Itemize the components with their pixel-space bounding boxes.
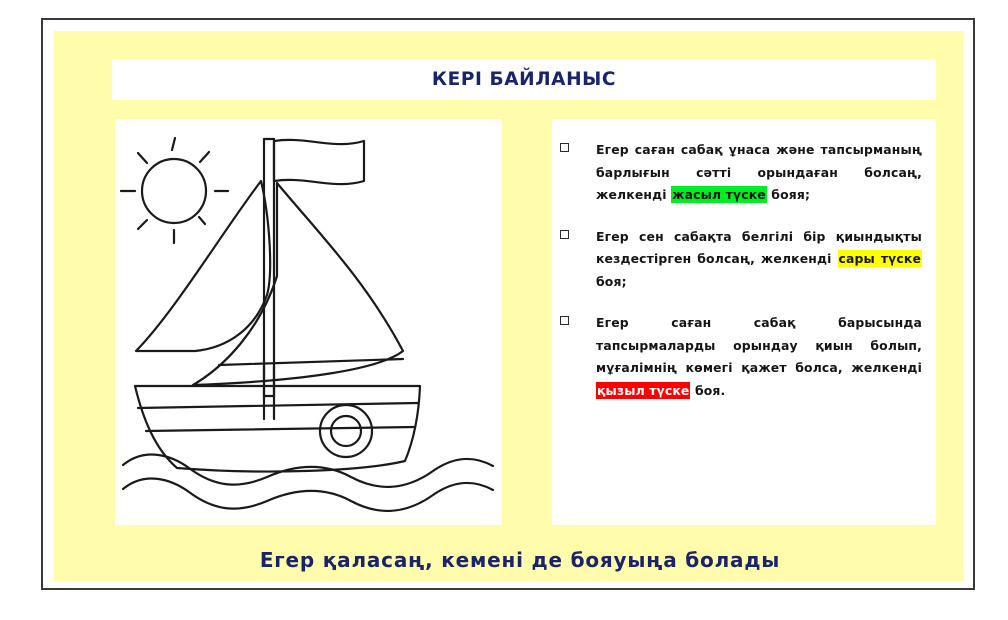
highlight-green: жасыл түске (671, 186, 767, 203)
checkbox-empty-icon[interactable] (560, 143, 569, 152)
yellow-panel: КЕРІ БАЙЛАНЫС (54, 31, 964, 581)
list-item: Егер сен сабақта белгілі бір қиындықты к… (596, 226, 922, 294)
instructions-box: Егер саған сабақ ұнаса және тапсырманың … (552, 119, 936, 525)
slide-frame: КЕРІ БАЙЛАНЫС (41, 18, 975, 590)
lifebuoy-icon (320, 405, 372, 457)
page-title: КЕРІ БАЙЛАНЫС (432, 69, 616, 90)
bullet-segment: Егер саған сабақ барысында тапсырмаларды… (596, 315, 922, 375)
bullet-text-1: Егер саған сабақ ұнаса және тапсырманың … (596, 139, 922, 207)
bullet-segment: бояя; (767, 187, 810, 202)
list-item: Егер саған сабақ ұнаса және тапсырманың … (596, 139, 922, 207)
bullet-segment: боя; (596, 274, 627, 289)
bullet-text-2: Егер сен сабақта белгілі бір қиындықты к… (596, 226, 922, 294)
illustration-box (115, 119, 502, 525)
highlight-yellow: сары түске (838, 250, 923, 267)
caption-bar: Егер қаласаң, кемені де бояуыңа болады (65, 538, 975, 582)
list-item: Егер саған сабақ барысында тапсырмаларды… (596, 312, 922, 402)
checkbox-empty-icon[interactable] (560, 230, 569, 239)
flag-icon (274, 140, 364, 184)
sailboat-line-drawing (115, 119, 502, 525)
highlight-red: қызыл түске (596, 382, 690, 399)
sun-icon (142, 159, 206, 223)
title-box: КЕРІ БАЙЛАНЫС (112, 59, 936, 100)
bullet-segment: боя. (690, 383, 725, 398)
slide-page: КЕРІ БАЙЛАНЫС (0, 0, 1008, 620)
bullet-text-3: Егер саған сабақ барысында тапсырмаларды… (596, 312, 922, 402)
checkbox-empty-icon[interactable] (560, 316, 569, 325)
caption-text: Егер қаласаң, кемені де бояуыңа болады (260, 548, 780, 572)
